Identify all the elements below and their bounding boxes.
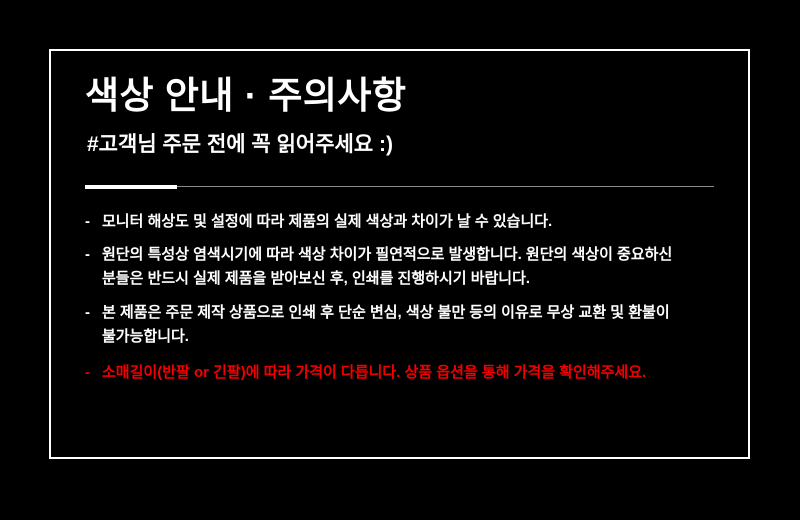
bullet-dash: - — [85, 210, 90, 234]
list-item-line: 소매길이(반팔 or 긴팔)에 따라 가격이 다릅니다. 상품 옵션을 통해 가… — [102, 361, 724, 385]
notice-frame: 색상 안내 · 주의사항 #고객님 주문 전에 꼭 읽어주세요 :) - 모니터… — [49, 49, 750, 459]
list-item-line: 본 제품은 주문 제작 상품으로 인쇄 후 단순 변심, 색상 불만 등의 이유… — [102, 301, 724, 325]
notice-content: 색상 안내 · 주의사항 #고객님 주문 전에 꼭 읽어주세요 :) - 모니터… — [85, 75, 724, 447]
list-item-line: 모니터 해상도 및 설정에 따라 제품의 실제 색상과 차이가 날 수 있습니다… — [102, 210, 724, 234]
section-divider — [85, 185, 714, 189]
page-title: 색상 안내 · 주의사항 — [85, 75, 724, 118]
page-subtitle: #고객님 주문 전에 꼭 읽어주세요 :) — [87, 132, 724, 157]
divider-accent-stub — [85, 185, 177, 189]
bullet-dash: - — [85, 243, 90, 267]
list-item-line: 원단의 특성상 염색시기에 따라 색상 차이가 필연적으로 발생합니다. 원단의… — [102, 243, 724, 267]
list-item: - 원단의 특성상 염색시기에 따라 색상 차이가 필연적으로 발생합니다. 원… — [85, 243, 724, 292]
notice-list: - 모니터 해상도 및 설정에 따라 제품의 실제 색상과 차이가 날 수 있습… — [85, 210, 724, 386]
list-item-line: 분들은 반드시 실제 제품을 받아보신 후, 인쇄를 진행하시기 바랍니다. — [102, 267, 724, 291]
bullet-dash: - — [85, 361, 90, 385]
list-item-highlighted: - 소매길이(반팔 or 긴팔)에 따라 가격이 다릅니다. 상품 옵션을 통해… — [85, 361, 724, 385]
list-item-line: 불가능합니다. — [102, 325, 724, 349]
list-item: - 본 제품은 주문 제작 상품으로 인쇄 후 단순 변심, 색상 불만 등의 … — [85, 301, 724, 350]
divider-rule — [85, 186, 714, 187]
bullet-dash: - — [85, 301, 90, 325]
screenshot-canvas: 색상 안내 · 주의사항 #고객님 주문 전에 꼭 읽어주세요 :) - 모니터… — [0, 0, 800, 520]
list-item: - 모니터 해상도 및 설정에 따라 제품의 실제 색상과 차이가 날 수 있습… — [85, 210, 724, 234]
